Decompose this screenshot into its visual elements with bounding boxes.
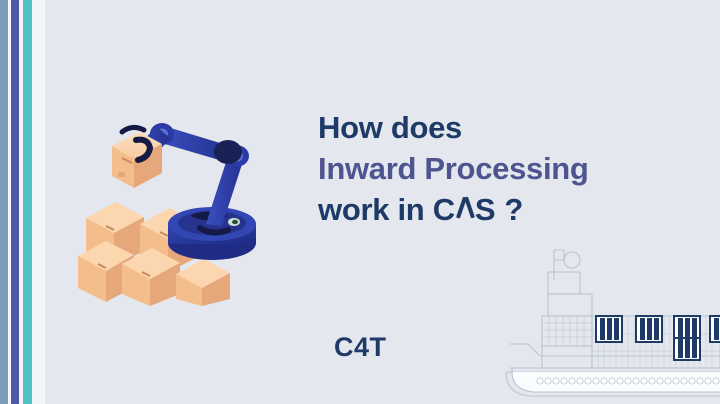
headline-line-1: How does — [318, 107, 698, 148]
cas-brand-letter-c: C — [433, 192, 456, 227]
cas-brand-letter-s: S — [475, 192, 496, 227]
headline-line-2: Inward Processing — [318, 148, 698, 189]
headline-line-3-suffix: ? — [496, 192, 523, 227]
accent-stripe-gap-3 — [32, 0, 45, 404]
industrial-robot-arm-icon — [78, 96, 278, 306]
slide-canvas: How does Inward Processing work in CS ? … — [0, 0, 720, 404]
c4t-logo: C4T — [334, 332, 387, 363]
accent-stripe-indigo — [11, 0, 19, 404]
accent-stripe-teal — [23, 0, 32, 404]
cas-brand-mark: CS — [433, 192, 496, 227]
headline-line-3: work in CS ? — [318, 189, 698, 230]
headline-line-3-prefix: work in — [318, 192, 433, 227]
container-ship-icon — [496, 232, 720, 404]
accent-stripe-slate — [0, 0, 8, 404]
page-title: How does Inward Processing work in CS ? — [318, 107, 698, 230]
